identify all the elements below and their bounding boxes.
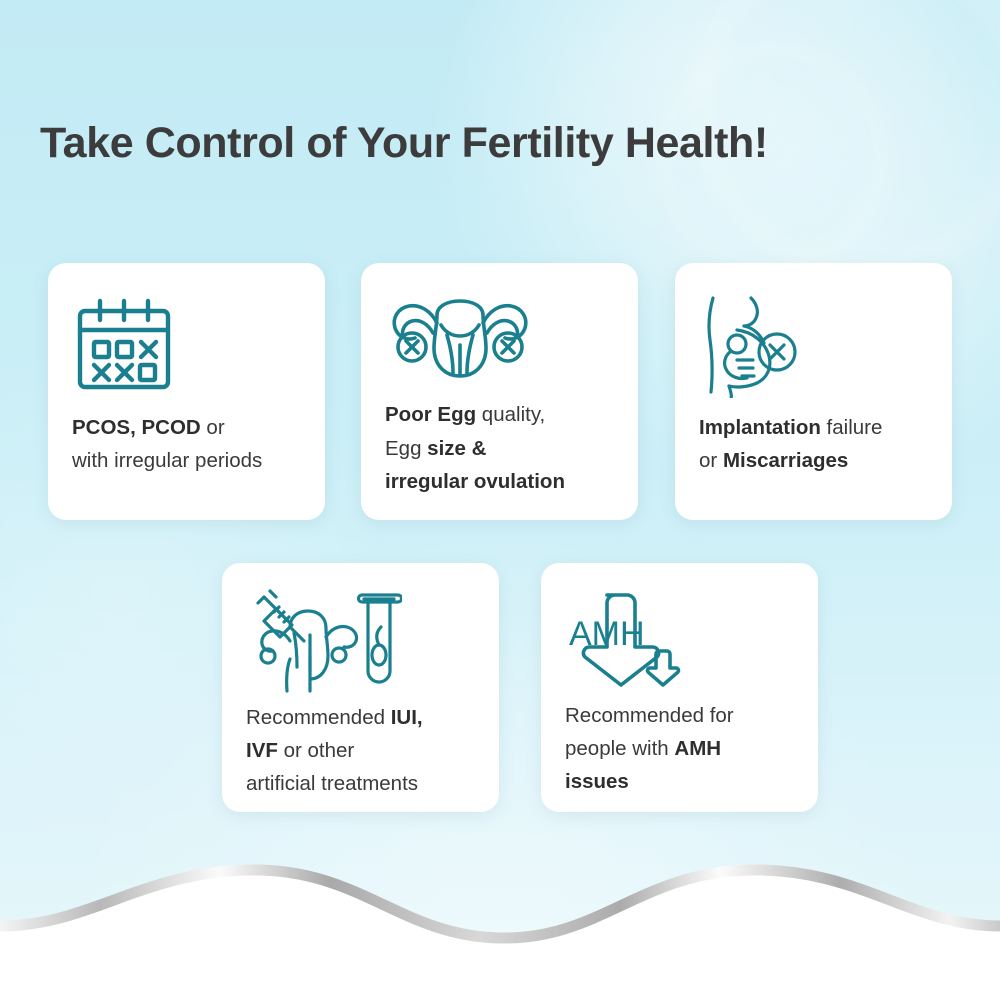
syringe-uterus-testtube-icon bbox=[246, 589, 402, 695]
card-line-bold: PCOS, PCOD bbox=[72, 416, 201, 439]
card-icon-wrap: AMH bbox=[565, 589, 794, 693]
card-line-plain: quality, bbox=[476, 403, 545, 426]
card-line-bold: irregular ovulation bbox=[385, 470, 565, 493]
card-icon-wrap bbox=[385, 289, 614, 392]
card-line: artificial treatments bbox=[246, 772, 418, 795]
card-line: IVF or other bbox=[246, 739, 354, 762]
card-text: Implantation failure or Miscarriages bbox=[699, 411, 928, 477]
card-line: issues bbox=[565, 770, 629, 793]
pregnant-belly-x-icon bbox=[699, 292, 811, 398]
card-line-plain: with irregular periods bbox=[72, 449, 262, 472]
card-line: PCOS, PCOD or bbox=[72, 416, 225, 439]
info-card-egg-quality: Poor Egg quality, Egg size & irregular o… bbox=[361, 263, 638, 520]
silver-wave-divider bbox=[0, 840, 1000, 1000]
card-icon-wrap bbox=[699, 289, 928, 401]
uterus-ovaries-x-icon bbox=[385, 293, 535, 389]
card-text: Recommended for people with AMH issues bbox=[565, 699, 794, 799]
card-line-bold: Poor Egg bbox=[385, 403, 476, 426]
card-line: Poor Egg quality, bbox=[385, 403, 545, 426]
card-line-bold: IUI, bbox=[391, 706, 423, 729]
card-text: Recommended IUI, IVF or other artificial… bbox=[246, 701, 475, 801]
card-line: people with AMH bbox=[565, 737, 721, 760]
wave-divider bbox=[0, 840, 1000, 1000]
card-line-plain: or bbox=[201, 416, 225, 439]
card-text: Poor Egg quality, Egg size & irregular o… bbox=[385, 398, 614, 498]
card-line-plain: or bbox=[699, 449, 723, 472]
card-line-bold: size & bbox=[427, 437, 486, 460]
card-line: or Miscarriages bbox=[699, 449, 848, 472]
card-line: Recommended for bbox=[565, 704, 734, 727]
info-card-implantation-failure: Implantation failure or Miscarriages bbox=[675, 263, 952, 520]
card-line: irregular ovulation bbox=[385, 470, 565, 493]
card-line-bold: Implantation bbox=[699, 416, 821, 439]
amh-down-arrow-icon: AMH bbox=[565, 589, 681, 693]
card-line-plain: Recommended for bbox=[565, 704, 734, 727]
info-card-amh-issues: AMH Recommended for people with AMH issu… bbox=[541, 563, 818, 812]
card-line-plain: failure bbox=[821, 416, 883, 439]
page-title: Take Control of Your Fertility Health! bbox=[40, 120, 940, 167]
info-card-iui-ivf: Recommended IUI, IVF or other artificial… bbox=[222, 563, 499, 812]
card-line-plain: Recommended bbox=[246, 706, 391, 729]
card-line: Egg size & bbox=[385, 437, 486, 460]
card-text: PCOS, PCOD or with irregular periods bbox=[72, 411, 301, 477]
card-line-bold: issues bbox=[565, 770, 629, 793]
card-line: with irregular periods bbox=[72, 449, 262, 472]
calendar-x-icon bbox=[72, 297, 180, 393]
card-line-bold: IVF bbox=[246, 739, 278, 762]
fertility-infographic-poster: Take Control of Your Fertility Health! bbox=[0, 0, 1000, 1000]
card-icon-wrap bbox=[246, 589, 475, 695]
card-line-plain: Egg bbox=[385, 437, 427, 460]
card-line: Recommended IUI, bbox=[246, 706, 423, 729]
info-card-pcos-pcod: PCOS, PCOD or with irregular periods bbox=[48, 263, 325, 520]
card-line-plain: artificial treatments bbox=[246, 772, 418, 795]
card-line-plain: or other bbox=[278, 739, 354, 762]
card-line-plain: people with bbox=[565, 737, 674, 760]
card-line: Implantation failure bbox=[699, 416, 882, 439]
card-line-bold: Miscarriages bbox=[723, 449, 848, 472]
card-line-bold: AMH bbox=[674, 737, 721, 760]
card-icon-wrap bbox=[72, 289, 301, 401]
